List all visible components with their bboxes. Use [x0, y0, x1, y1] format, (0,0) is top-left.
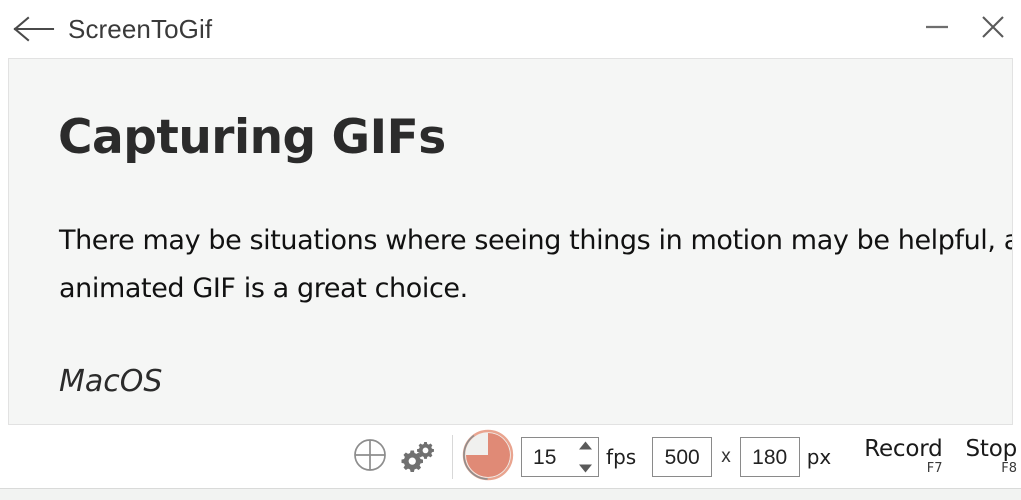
record-label: Record: [864, 437, 942, 461]
page-title: Capturing GIFs: [58, 114, 446, 161]
capture-toolbar: 15 fps 500 x 180 px: [0, 426, 1021, 488]
back-arrow-icon: [13, 16, 55, 42]
stop-button-text: Stop F8: [966, 437, 1018, 476]
title-bar: ScreenToGif: [0, 0, 1021, 58]
close-icon: [980, 14, 1006, 45]
size-separator: x: [721, 446, 731, 468]
size-unit-label: px: [807, 447, 832, 467]
width-input[interactable]: 500: [652, 437, 712, 477]
toolbar-separator: [452, 435, 453, 479]
record-button[interactable]: Record F7: [855, 430, 942, 484]
screentogif-window: ScreenToGif Capturing GIFs T: [0, 0, 1021, 500]
document-paragraph: There may be situations where seeing thi…: [59, 217, 1013, 313]
snapshot-region-button[interactable]: [346, 430, 394, 484]
status-strip: [0, 488, 1021, 500]
document-preview-panel: Capturing GIFs There may be situations w…: [8, 58, 1013, 425]
record-hotkey: F7: [927, 462, 943, 476]
crosshair-target-icon: [353, 438, 387, 477]
minimize-icon: [925, 20, 949, 39]
close-button[interactable]: [965, 7, 1021, 51]
width-value: 500: [665, 447, 700, 468]
window-controls: [909, 0, 1021, 58]
capture-size-group: 500 x 180 px: [652, 437, 831, 477]
stop-button[interactable]: Stop F8: [957, 430, 1018, 484]
spinner-down-arrow-icon[interactable]: [578, 460, 593, 478]
gears-icon: [400, 437, 436, 478]
stop-label: Stop: [966, 437, 1018, 461]
record-button-text: Record F7: [864, 437, 942, 476]
pie-timer-icon: [462, 429, 514, 486]
fps-value: 15: [522, 447, 556, 468]
fps-unit-label: fps: [606, 447, 636, 467]
height-input[interactable]: 180: [740, 437, 800, 477]
fps-arrow-buttons[interactable]: [578, 437, 593, 478]
timer-delay-button[interactable]: [459, 430, 517, 484]
back-button[interactable]: [6, 6, 62, 52]
settings-button[interactable]: [394, 430, 442, 484]
minimize-button[interactable]: [909, 7, 965, 51]
stop-hotkey: F8: [1001, 462, 1017, 476]
document-subheading: MacOS: [59, 367, 162, 397]
height-value: 180: [752, 447, 787, 468]
spinner-up-arrow-icon[interactable]: [578, 437, 593, 455]
app-title: ScreenToGif: [68, 16, 212, 42]
fps-stepper[interactable]: 15: [521, 437, 599, 477]
